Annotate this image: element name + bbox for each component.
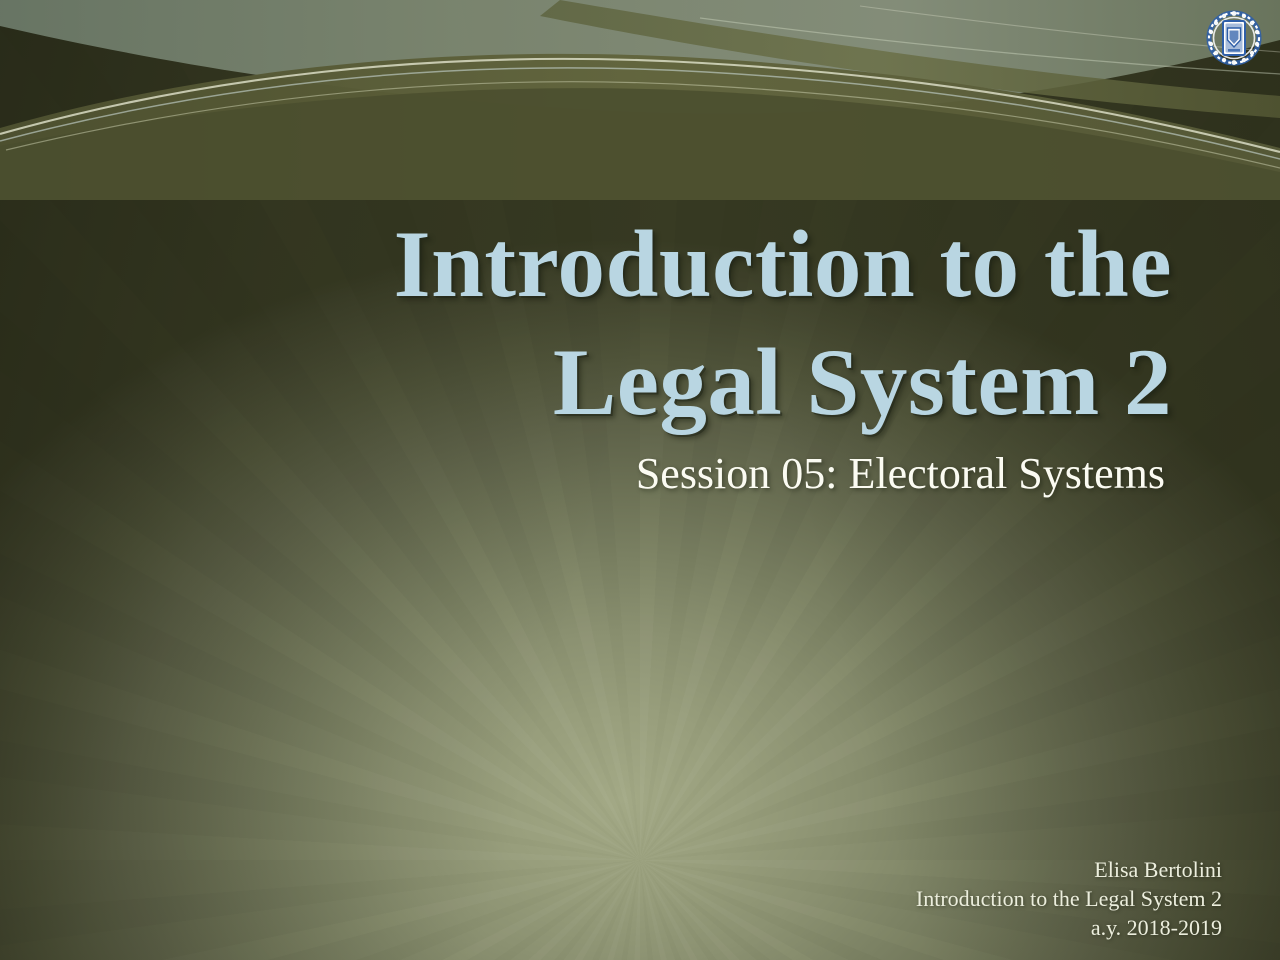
- footer-course: Introduction to the Legal System 2: [916, 884, 1222, 913]
- presentation-slide: Introduction to the Legal System 2 Sessi…: [0, 0, 1280, 960]
- footer-author: Elisa Bertolini: [916, 855, 1222, 884]
- title-line-1: Introduction to the: [394, 211, 1172, 317]
- university-crest-icon: [1206, 9, 1262, 67]
- footer-academic-year: a.y. 2018-2019: [916, 913, 1222, 942]
- footer-credits: Elisa Bertolini Introduction to the Lega…: [916, 855, 1222, 942]
- title-block: Introduction to the Legal System 2 Sessi…: [120, 206, 1172, 498]
- page-title: Introduction to the Legal System 2: [120, 206, 1172, 442]
- slide-subtitle: Session 05: Electoral Systems: [120, 450, 1172, 498]
- top-wave-decoration: [0, 0, 1280, 200]
- title-line-2: Legal System 2: [553, 329, 1172, 435]
